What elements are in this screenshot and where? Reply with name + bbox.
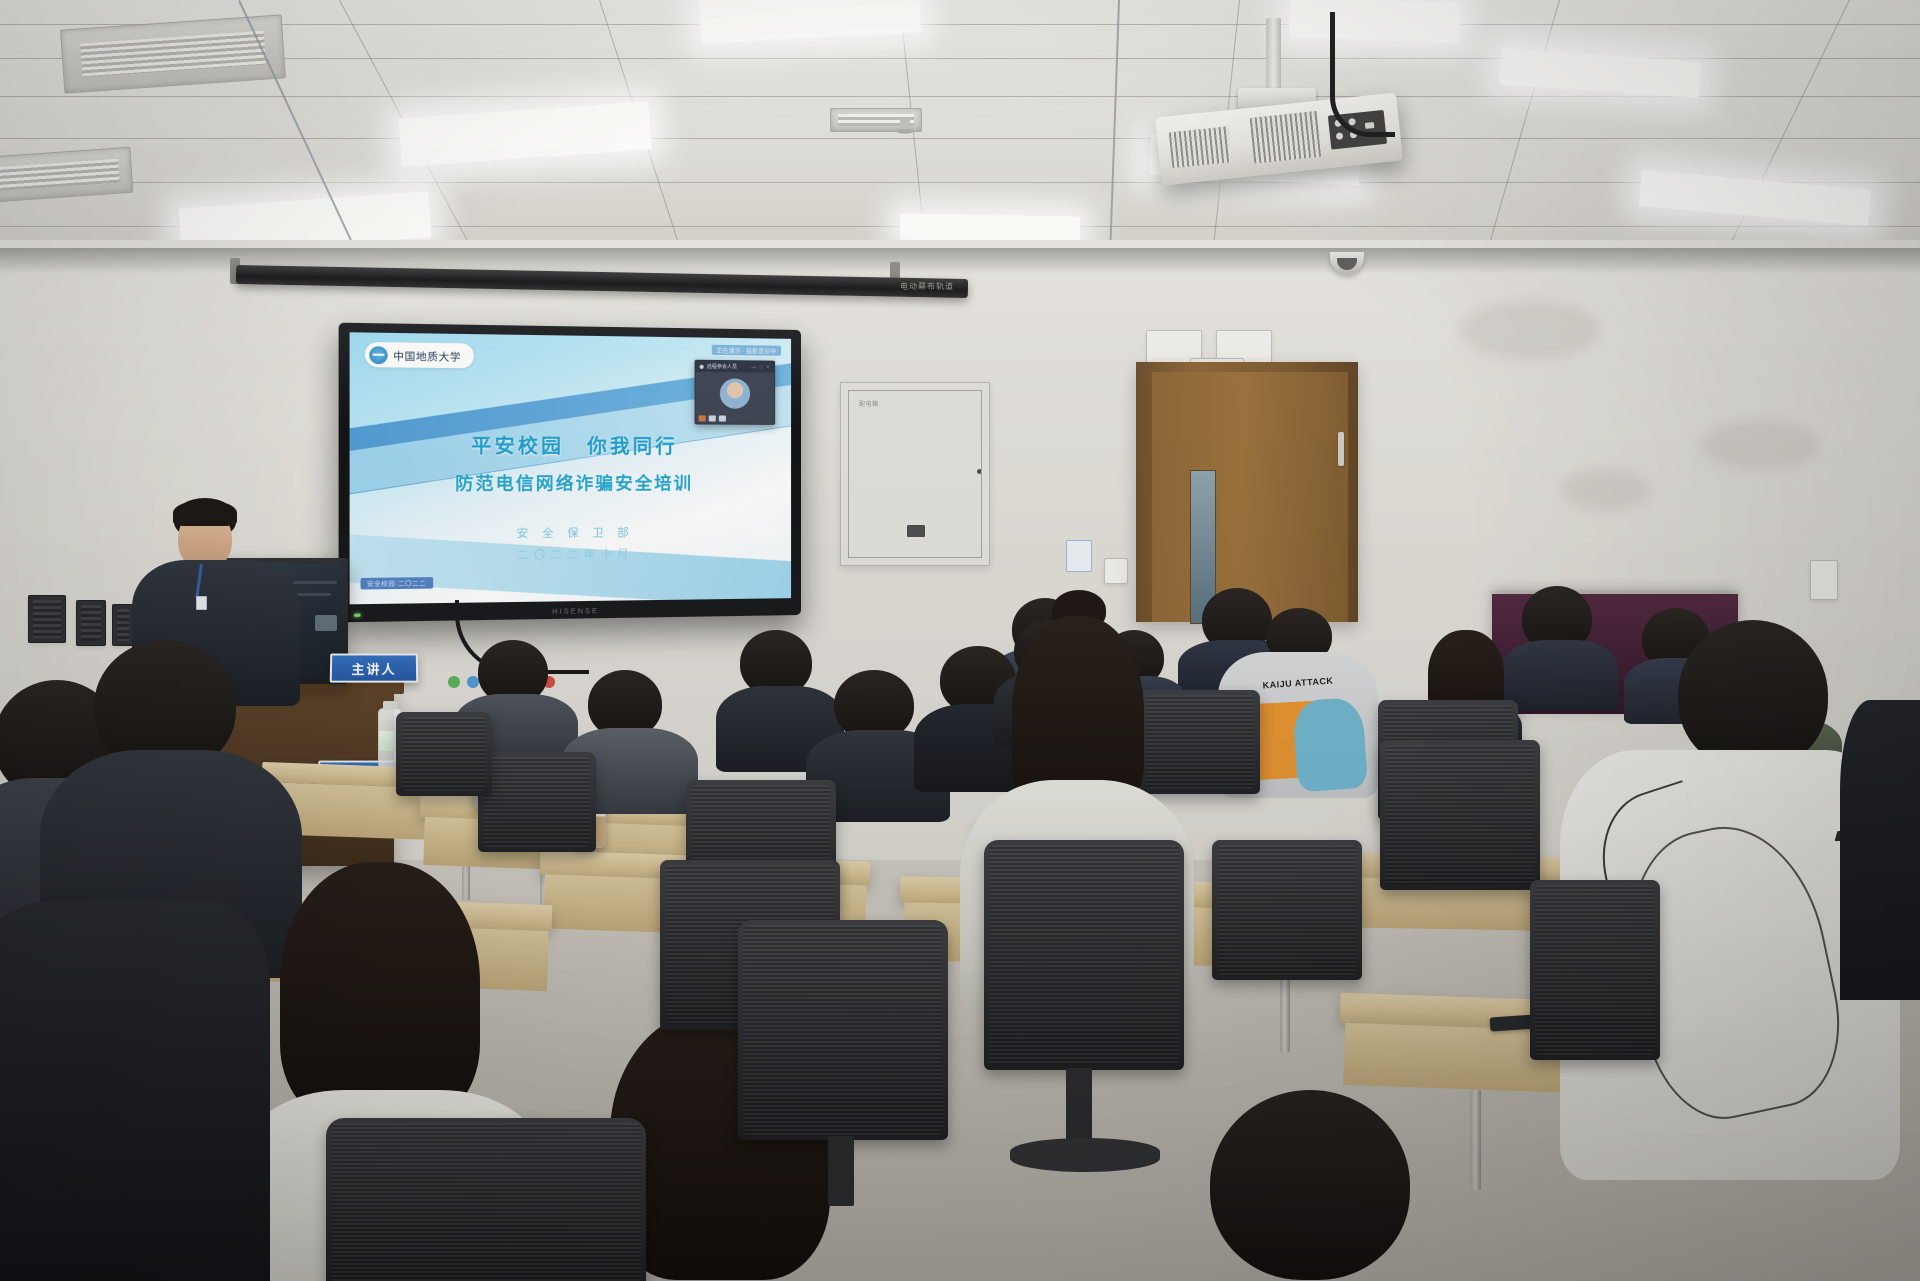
classroom-photo-scene: 电动幕布轨道 中国地质大学 正在演示 · 投影显示中 平安校园 你我 (0, 0, 1920, 1281)
slide-subtitle: 防范电信网络诈骗安全培训 (350, 468, 791, 494)
rail-label: 电动幕布轨道 (900, 281, 954, 292)
chair[interactable] (396, 712, 492, 796)
wall-display[interactable]: 中国地质大学 正在演示 · 投影显示中 平安校园 你我同行 防范电信网络诈骗安全… (339, 323, 801, 623)
university-logo-mark (369, 346, 388, 364)
ceiling-light-panel (1499, 48, 1701, 98)
audience-member (826, 670, 926, 790)
audience-member (1840, 700, 1920, 1000)
video-call-panel[interactable]: 远程参会人员 — □ × (695, 360, 776, 425)
electrical-panel[interactable]: 配电箱 (840, 382, 990, 566)
id-badge (196, 596, 207, 610)
ceiling-light-panel (900, 213, 1080, 242)
chair[interactable] (1380, 740, 1540, 890)
power-led-icon (354, 614, 361, 617)
door-handle[interactable] (1338, 432, 1344, 466)
participants-icon[interactable] (719, 415, 726, 421)
participant-avatar-icon (720, 378, 750, 408)
slide-screen: 中国地质大学 正在演示 · 投影显示中 平安校园 你我同行 防范电信网络诈骗安全… (350, 332, 791, 604)
video-call-toolbar[interactable] (696, 413, 775, 424)
slide-main-title: 平安校园 你我同行 (350, 430, 791, 459)
classroom-door[interactable] (1152, 372, 1348, 622)
chair[interactable] (984, 840, 1184, 1070)
projector-pole (1266, 18, 1281, 98)
ceiling-light-panel (699, 0, 921, 44)
slide-top-chip: 正在演示 · 投影显示中 (711, 345, 781, 356)
wall-outlet[interactable] (1104, 558, 1128, 584)
wall-outlet[interactable] (1810, 560, 1838, 600)
presenter-nameplate: 主讲人 (330, 654, 419, 683)
projector-cable (1330, 12, 1395, 137)
chair[interactable] (478, 752, 596, 852)
audience-member (732, 630, 824, 742)
chair[interactable] (326, 1118, 646, 1281)
fire-sprinkler-icon (900, 118, 910, 134)
chair[interactable] (738, 920, 948, 1140)
video-call-status-icon (700, 364, 704, 368)
camera-icon[interactable] (709, 415, 716, 421)
wall-notice-sign (1066, 540, 1092, 572)
video-call-title: 远程参会人员 (707, 363, 737, 370)
wall-switch-panel[interactable] (28, 595, 66, 643)
university-logo: 中国地质大学 (365, 342, 474, 368)
electrical-panel-label: 配电箱 (859, 399, 879, 408)
audience-member-foreground (0, 900, 240, 1281)
ceiling-light-panel (399, 101, 652, 166)
chair[interactable] (1530, 880, 1660, 1060)
mic-icon[interactable] (699, 415, 706, 421)
slide-bottom-pill: 安全校园·二〇二二 (361, 577, 433, 589)
ceiling-light-panel (1639, 170, 1871, 226)
university-logo-text: 中国地质大学 (393, 347, 461, 363)
chair[interactable] (1212, 840, 1362, 980)
video-call-titlebar: 远程参会人员 — □ × (696, 361, 775, 373)
audience-member-foreground (1180, 1090, 1480, 1281)
air-vent (0, 147, 133, 203)
slide-department: 安 全 保 卫 部 (350, 523, 791, 542)
window-controls[interactable]: — □ × (751, 364, 770, 370)
